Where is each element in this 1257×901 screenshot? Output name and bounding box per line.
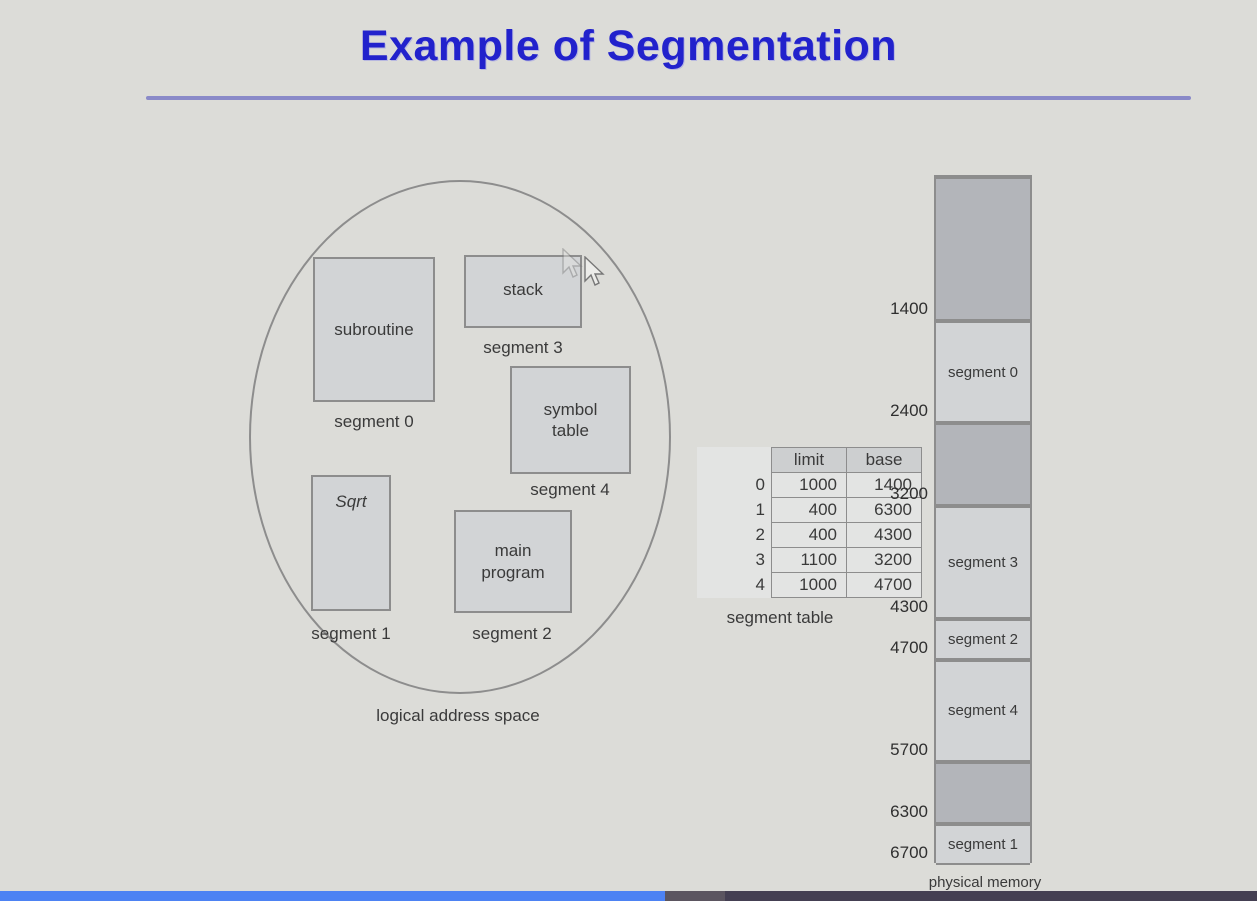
segment-box-label: stack xyxy=(503,279,543,300)
limit-cell: 400 xyxy=(772,523,847,548)
row-index-cell: 3 xyxy=(697,548,772,573)
row-index-cell: 0 xyxy=(697,473,772,498)
memory-block-label: segment 1 xyxy=(948,836,1018,853)
segment-caption-0: segment 0 xyxy=(283,412,465,432)
video-progress-track[interactable] xyxy=(0,891,1257,901)
limit-cell: 1100 xyxy=(772,548,847,573)
segment-caption-3: segment 3 xyxy=(432,338,614,358)
memory-tick-label: 3200 xyxy=(866,484,928,504)
memory-tick-label: 1400 xyxy=(866,299,928,319)
memory-tick-label: 4700 xyxy=(866,638,928,658)
segment-box-label: main program xyxy=(481,540,544,583)
memory-block-free xyxy=(936,177,1030,321)
memory-block-free xyxy=(936,762,1030,824)
memory-block-label: segment 2 xyxy=(948,631,1018,648)
main-program-line1: main xyxy=(495,541,532,560)
memory-block-label: segment 0 xyxy=(948,364,1018,381)
memory-tick-label: 4300 xyxy=(866,597,928,617)
limit-cell: 1000 xyxy=(772,473,847,498)
symbol-table-line1: symbol xyxy=(544,400,598,419)
segment-box-label: symbol table xyxy=(544,399,598,442)
segment-box-label: subroutine xyxy=(334,319,413,340)
memory-block-free xyxy=(936,423,1030,505)
segment-table: limit base 01000140014006300240043003110… xyxy=(697,447,922,598)
table-row: 24004300 xyxy=(697,523,922,548)
memory-block-label: segment 3 xyxy=(948,554,1018,571)
physical-memory-bar: segment 0segment 3segment 2segment 4segm… xyxy=(934,175,1032,863)
video-buffer-indicator xyxy=(665,891,725,901)
column-header-base: base xyxy=(847,448,922,473)
row-index-cell: 2 xyxy=(697,523,772,548)
column-header-limit: limit xyxy=(772,448,847,473)
memory-block-segment-4: segment 4 xyxy=(936,660,1030,763)
base-cell: 4700 xyxy=(847,573,922,598)
title-divider xyxy=(146,96,1191,100)
memory-block-segment-1: segment 1 xyxy=(936,824,1030,865)
segment-box-sqrt: Sqrt xyxy=(311,475,391,611)
memory-block-segment-2: segment 2 xyxy=(936,619,1030,660)
video-progress-indicator[interactable] xyxy=(0,891,665,901)
physical-memory-caption: physical memory xyxy=(880,874,1090,891)
memory-block-label: segment 4 xyxy=(948,702,1018,719)
base-cell: 3200 xyxy=(847,548,922,573)
memory-block-segment-3: segment 3 xyxy=(936,506,1030,619)
segment-caption-4: segment 4 xyxy=(479,480,661,500)
memory-tick-label: 6700 xyxy=(866,843,928,863)
row-index-cell: 1 xyxy=(697,498,772,523)
segment-box-subroutine: subroutine xyxy=(313,257,435,402)
segment-table-wrapper: limit base 01000140014006300240043003110… xyxy=(697,447,922,598)
table-header-row: limit base xyxy=(697,448,922,473)
logical-address-space-caption: logical address space xyxy=(249,706,667,726)
segment-caption-1: segment 1 xyxy=(260,624,442,644)
memory-tick-label: 5700 xyxy=(866,740,928,760)
segment-table-caption: segment table xyxy=(697,608,863,628)
segment-box-main-program: main program xyxy=(454,510,572,613)
main-program-line2: program xyxy=(481,563,544,582)
page-title: Example of Segmentation xyxy=(0,22,1257,71)
memory-block-segment-0: segment 0 xyxy=(936,321,1030,424)
limit-cell: 1000 xyxy=(772,573,847,598)
table-corner-cell xyxy=(697,448,772,473)
limit-cell: 400 xyxy=(772,498,847,523)
memory-tick-label: 2400 xyxy=(866,401,928,421)
segment-box-label: Sqrt xyxy=(335,491,366,512)
row-index-cell: 4 xyxy=(697,573,772,598)
segment-caption-2: segment 2 xyxy=(421,624,603,644)
base-cell: 4300 xyxy=(847,523,922,548)
segment-box-symbol-table: symbol table xyxy=(510,366,631,474)
symbol-table-line2: table xyxy=(552,421,589,440)
memory-tick-label: 6300 xyxy=(866,802,928,822)
table-row: 410004700 xyxy=(697,573,922,598)
table-row: 311003200 xyxy=(697,548,922,573)
